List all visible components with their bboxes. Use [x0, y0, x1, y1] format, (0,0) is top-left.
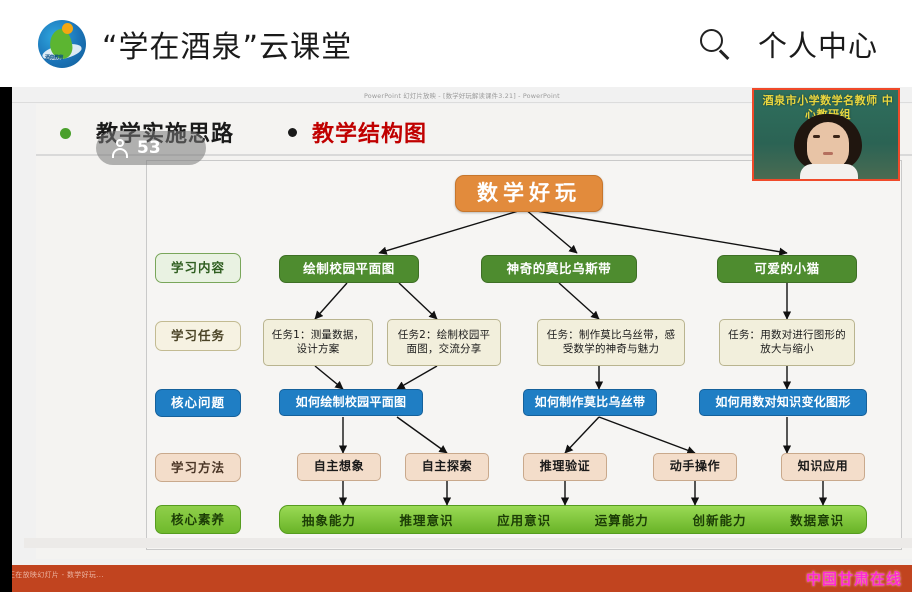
node-content-1: 神奇的莫比乌斯带	[481, 255, 637, 283]
row-label-task: 学习任务	[155, 321, 241, 351]
brand[interactable]: 酒泉教育 “学在酒泉”云课堂	[38, 20, 352, 68]
search-icon[interactable]	[698, 27, 732, 61]
user-center-link[interactable]: 个人中心	[758, 23, 878, 65]
row-label-question: 核心问题	[155, 389, 241, 417]
presenter-webcam[interactable]: 酒泉市小学数学名教师 中心教研组	[752, 88, 900, 181]
node-task-1: 任务2：绘制校园平面图，交流分享	[387, 319, 501, 366]
windows-taskbar[interactable]: 正在放映幻灯片 - 数学好玩... 中国甘肃在线	[0, 565, 912, 592]
viewer-count: 53	[137, 138, 161, 158]
node-task-3: 任务：用数对进行图形的放大与缩小	[719, 319, 855, 366]
node-content-0: 绘制校园平面图	[279, 255, 419, 283]
node-method-4: 知识应用	[781, 453, 865, 481]
node-question-2: 如何用数对知识变化图形	[699, 389, 867, 416]
heading-separator-dot	[288, 128, 297, 137]
powerpoint-title-text: PowerPoint 幻灯片放映 - [数学好玩解读课件3.21] - Powe…	[364, 90, 560, 100]
header-actions: 个人中心	[698, 23, 878, 65]
stage-left-letterbox	[0, 87, 12, 592]
app-root: 酒泉教育 “学在酒泉”云课堂 个人中心 PowerPoint 幻灯片放映 - […	[0, 0, 912, 592]
node-question-0: 如何绘制校园平面图	[279, 389, 423, 416]
site-header: 酒泉教育 “学在酒泉”云课堂 个人中心	[0, 0, 912, 87]
node-method-3: 动手操作	[653, 453, 737, 481]
row-label-literacy: 核心素养	[155, 505, 241, 534]
site-watermark: 中国甘肃在线	[806, 568, 902, 589]
taskbar-status-text: 正在放映幻灯片 - 数学好玩...	[8, 570, 104, 580]
slide-heading-sub: 教学结构图	[312, 116, 427, 148]
node-question-1: 如何制作莫比乌丝带	[523, 389, 657, 416]
education-logo-icon: 酒泉教育	[38, 20, 86, 68]
node-content-2: 可爱的小猫	[717, 255, 857, 283]
row-label-content: 学习内容	[155, 253, 241, 283]
node-method-2: 推理验证	[523, 453, 607, 481]
node-task-2: 任务：制作莫比乌丝带，感受数学的神奇与魅力	[537, 319, 685, 366]
viewer-count-pill[interactable]: 53	[96, 131, 206, 165]
teacher-avatar	[794, 114, 862, 181]
video-stage: PowerPoint 幻灯片放映 - [数学好玩解读课件3.21] - Powe…	[0, 87, 912, 592]
bullet-dot-icon	[60, 128, 71, 139]
node-method-1: 自主探索	[405, 453, 489, 481]
site-title: “学在酒泉”云课堂	[102, 22, 352, 66]
person-icon	[112, 139, 129, 158]
node-task-0: 任务1：测量数据，设计方案	[263, 319, 373, 366]
row-label-method: 学习方法	[155, 453, 241, 482]
node-method-0: 自主想象	[297, 453, 381, 481]
node-root: 数学好玩	[455, 175, 603, 212]
teaching-structure-diagram: 数学好玩 学习内容 学习任务 核心问题 学习方法 核心素养 绘制校园平面图 神奇…	[146, 160, 902, 550]
